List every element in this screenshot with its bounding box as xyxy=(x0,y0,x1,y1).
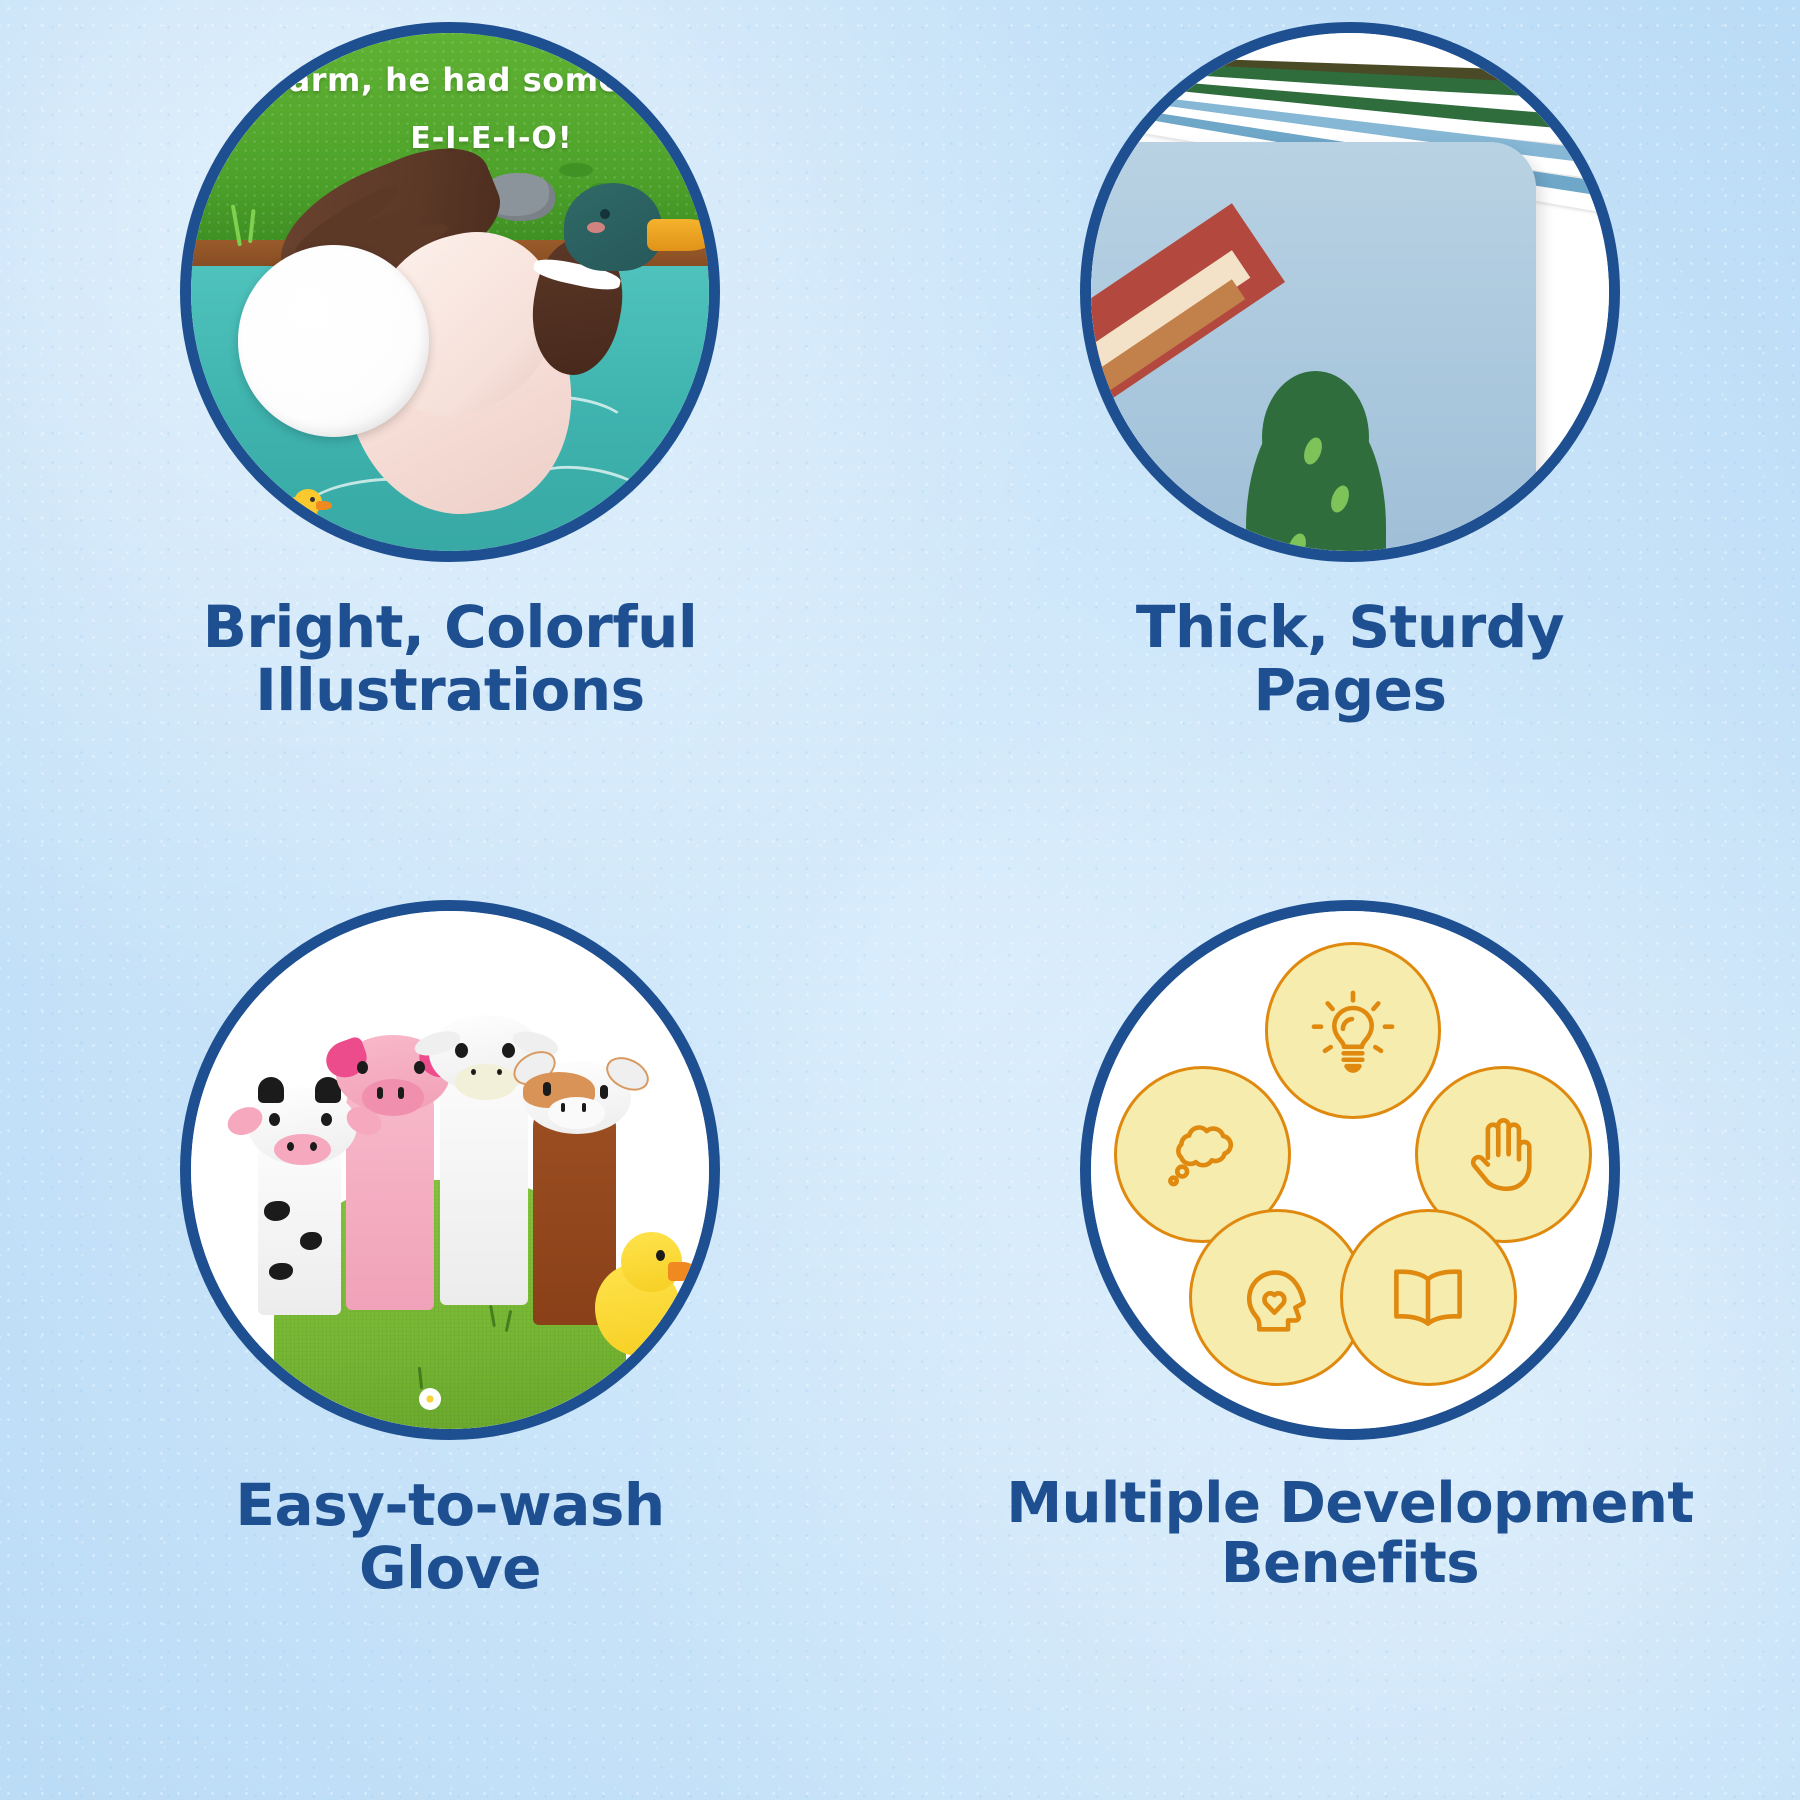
duckling-icon xyxy=(274,489,332,541)
feature-poster: hat farm, he had some duc E-I-E-I-O! Bri… xyxy=(0,0,1800,1800)
benefit-icon-cluster xyxy=(1091,911,1609,1429)
glove-clip xyxy=(191,911,709,1429)
duck-bill xyxy=(647,219,714,250)
cow-horn xyxy=(258,1077,284,1103)
finger-puppet-glove-photo xyxy=(191,911,709,1429)
page-text-line-2: E-I-E-I-O! xyxy=(410,121,572,156)
caption-line-2: Pages xyxy=(1136,659,1564,722)
caption-line-2: Benefits xyxy=(1006,1534,1693,1594)
pebble-icon xyxy=(559,163,593,177)
caption-line-2: Glove xyxy=(235,1537,664,1600)
circle-wrap-pages xyxy=(1080,22,1620,562)
thought-bubble-icon xyxy=(1157,1109,1249,1201)
feature-caption-illustrations: Bright, Colorful Illustrations xyxy=(203,596,698,721)
feature-caption-pages: Thick, Sturdy Pages xyxy=(1136,596,1564,721)
feature-cell-easy-to-wash-glove: Easy-to-wash Glove xyxy=(0,900,900,1800)
benefit-icon-creativity xyxy=(1265,942,1442,1119)
hand-icon xyxy=(1457,1109,1549,1201)
feature-cell-multiple-development-benefits: Multiple Development Benefits xyxy=(900,900,1800,1800)
feature-caption-glove: Easy-to-wash Glove xyxy=(235,1474,664,1599)
benefit-icon-literacy xyxy=(1340,1209,1517,1386)
caption-line-1: Bright, Colorful xyxy=(203,596,698,659)
open-book-icon xyxy=(1382,1251,1474,1343)
feature-image-glove xyxy=(180,900,720,1440)
feature-cell-thick-sturdy-pages: Thick, Sturdy Pages xyxy=(900,0,1800,900)
feature-caption-benefits: Multiple Development Benefits xyxy=(1006,1474,1693,1595)
book-page-illustration: hat farm, he had some duc E-I-E-I-O! xyxy=(191,33,709,551)
feature-image-pages xyxy=(1080,22,1620,562)
puppet-duck xyxy=(595,1232,693,1356)
caption-line-1: Thick, Sturdy xyxy=(1136,596,1564,659)
caption-line-1: Multiple Development xyxy=(1006,1474,1693,1534)
circle-wrap-illustrations: hat farm, he had some duc E-I-E-I-O! xyxy=(180,22,720,562)
feature-cell-bright-colorful-illustrations: hat farm, he had some duc E-I-E-I-O! Bri… xyxy=(0,0,900,900)
feature-grid: hat farm, he had some duc E-I-E-I-O! Bri… xyxy=(0,0,1800,1800)
head-heart-icon xyxy=(1232,1251,1324,1343)
circle-wrap-glove xyxy=(180,900,720,1440)
page-text-line-1: hat farm, he had some duc xyxy=(201,61,698,99)
feature-image-illustrations: hat farm, he had some duc E-I-E-I-O! xyxy=(180,22,720,562)
caption-line-2: Illustrations xyxy=(203,659,698,722)
white-disc-overlay xyxy=(238,245,430,437)
board-book-photo xyxy=(1091,33,1609,551)
caption-line-1: Easy-to-wash xyxy=(235,1474,664,1537)
top-page-illustration xyxy=(1080,142,1536,562)
circle-wrap-benefits xyxy=(1080,900,1620,1440)
lightbulb-icon xyxy=(1307,985,1399,1077)
feature-image-benefits xyxy=(1080,900,1620,1440)
daisy-icon xyxy=(419,1388,441,1410)
